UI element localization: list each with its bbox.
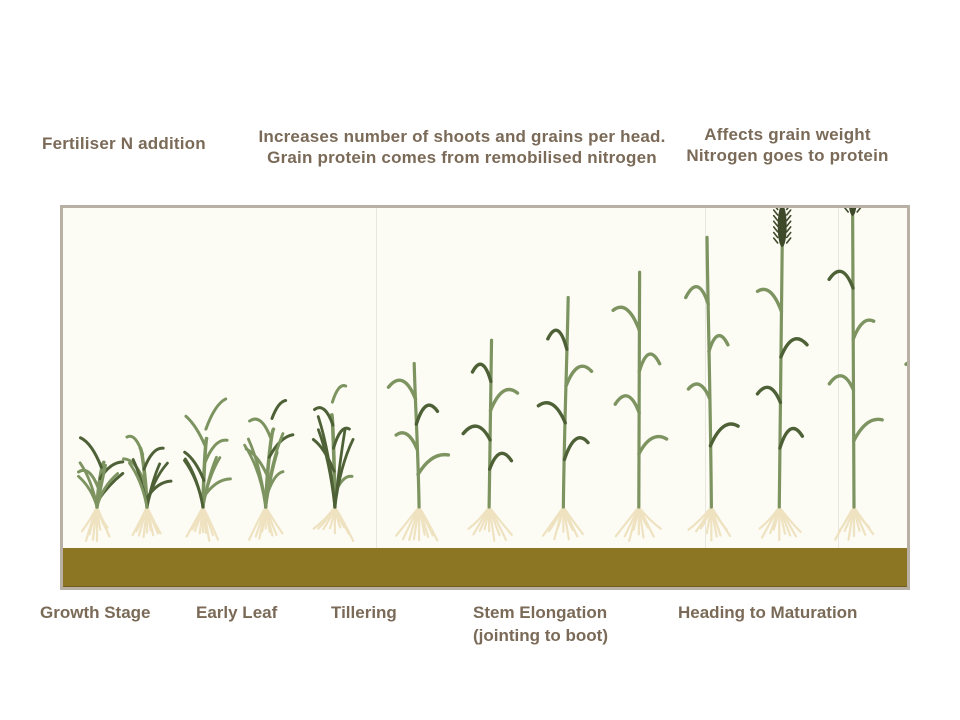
stem-group <box>906 205 910 507</box>
stage-label-early-leaf: Early Leaf <box>196 601 277 624</box>
wheat-plant-early-leaf-1 <box>77 445 117 549</box>
root-system <box>133 507 161 537</box>
stem-group <box>123 436 170 507</box>
stem-group <box>463 340 517 507</box>
stage-label-stem-elongation: Stem Elongation (jointing to boot) <box>473 601 608 647</box>
wheat-plant-early-leaf-2 <box>127 425 167 549</box>
wheat-plant-tillering-2 <box>308 379 362 549</box>
root-system <box>82 507 109 541</box>
stage-divider-1 <box>376 208 377 587</box>
stage-label-tillering: Tillering <box>331 601 397 624</box>
wheat-plant-early-leaf-3 <box>183 412 223 549</box>
annotation-fertiliser-n-addition: Fertiliser N addition <box>42 133 252 154</box>
stem-group <box>245 400 293 506</box>
root-system <box>543 507 583 539</box>
wheat-plant-stem-elongation-2 <box>453 335 525 549</box>
wheat-plant-maturation-1 <box>863 205 910 549</box>
figure-canvas: Fertiliser N addition Increases number o… <box>0 0 960 720</box>
soil-shadow <box>63 586 907 590</box>
root-system <box>469 507 512 541</box>
stem-group <box>538 297 591 507</box>
wheat-plant-tillering-1 <box>243 399 288 549</box>
stem-group <box>78 438 122 507</box>
root-system <box>314 507 354 541</box>
grain-head <box>844 205 861 216</box>
growth-stage-illustration <box>60 205 910 590</box>
stage-label-heading-to-maturation: Heading to Maturation <box>678 601 857 624</box>
annotation-shoots-and-grains: Increases number of shoots and grains pe… <box>258 126 666 168</box>
root-system <box>187 507 218 541</box>
root-system <box>249 507 282 540</box>
stage-label-growth-stage: Growth Stage <box>40 601 151 624</box>
annotation-grain-weight-protein: Affects grain weight Nitrogen goes to pr… <box>660 124 915 166</box>
soil-band <box>63 548 907 590</box>
wheat-plant-stem-elongation-1 <box>388 359 450 549</box>
root-system <box>909 507 910 540</box>
stem-group <box>388 363 448 507</box>
stem-group <box>313 386 353 507</box>
root-system <box>396 507 437 540</box>
